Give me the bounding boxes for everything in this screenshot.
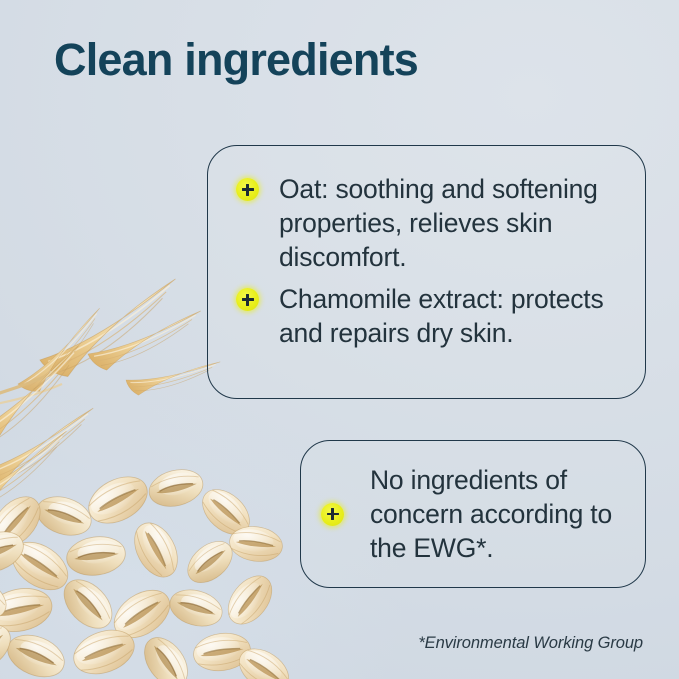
ewg-claim-card: No ingredients of concern according to t… [300,440,646,588]
list-item: Chamomile extract: protects and repairs … [236,282,626,350]
plus-badge-icon [321,503,344,526]
plus-badge-icon [236,178,259,201]
list-item: Oat: soothing and softening properties, … [236,172,626,274]
ingredients-card: Oat: soothing and softening properties, … [207,145,646,399]
page-title: Clean ingredients [54,34,418,86]
list-item-label: Oat: soothing and softening properties, … [279,172,626,274]
ewg-claim-label: No ingredients of concern according to t… [370,463,629,565]
list-item: No ingredients of concern according to t… [321,441,629,587]
list-item-label: Chamomile extract: protects and repairs … [279,282,626,350]
footnote: *Environmental Working Group [418,634,643,653]
plus-badge-icon [236,288,259,311]
product-infographic: Clean ingredients Oat: soothing and soft… [0,0,679,679]
